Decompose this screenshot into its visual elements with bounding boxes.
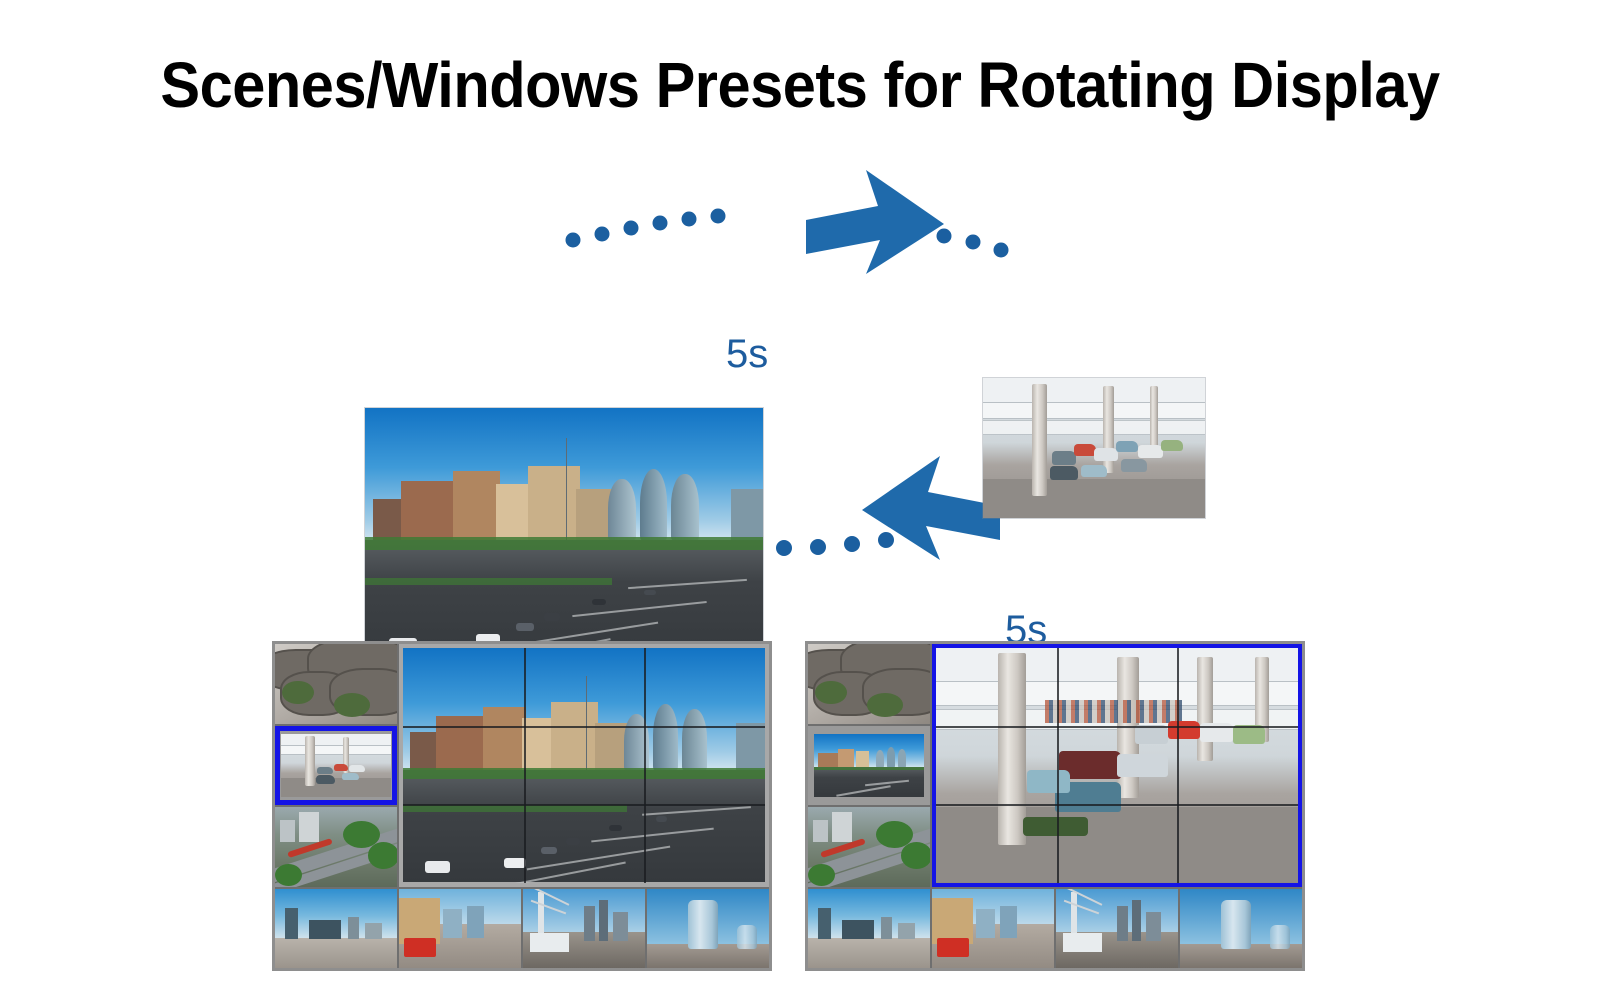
wall-cell-bottom-2[interactable] (523, 889, 645, 969)
video-wall-preset-2[interactable] (805, 641, 1305, 971)
wall-cell-bottom-1[interactable] (932, 889, 1054, 969)
wall-cell-side-1[interactable] (808, 644, 930, 724)
wall-cell-side-4[interactable] (808, 889, 930, 969)
rotation-diagram: 5s 5s (0, 150, 1600, 590)
wall-cell-bottom-2[interactable] (1056, 889, 1178, 969)
wall-cell-side-3[interactable] (275, 807, 397, 887)
wall-cell-side-3[interactable] (808, 807, 930, 887)
wall-grid (808, 644, 1302, 968)
wall-cell-bottom-3[interactable] (1180, 889, 1302, 969)
video-wall-preset-1[interactable] (272, 641, 772, 971)
dotted-arc-top (566, 209, 726, 248)
scene-b-preview-street-overpass[interactable] (983, 378, 1205, 518)
wall-cell-side-1[interactable] (275, 644, 397, 724)
wall-cell-side-2[interactable] (808, 726, 930, 806)
wall-cell-side-4[interactable] (275, 889, 397, 969)
wall-cell-bottom-1[interactable] (399, 889, 521, 969)
rotation-interval-label-top: 5s (726, 332, 768, 377)
wall-grid (275, 644, 769, 968)
scene-a-preview-city-skyline[interactable] (365, 408, 763, 661)
wall-main-window-selected[interactable] (932, 644, 1302, 887)
dotted-arc-top-right (907, 226, 1009, 258)
wall-cell-side-2-selected[interactable] (275, 726, 397, 806)
page-title: Scenes/Windows Presets for Rotating Disp… (56, 48, 1544, 122)
wall-cell-bottom-3[interactable] (647, 889, 769, 969)
wall-main-window[interactable] (399, 644, 769, 887)
rotation-loop-arrows (0, 150, 1600, 590)
arrow-right-icon (806, 170, 944, 274)
arrow-left-icon (862, 456, 1000, 560)
